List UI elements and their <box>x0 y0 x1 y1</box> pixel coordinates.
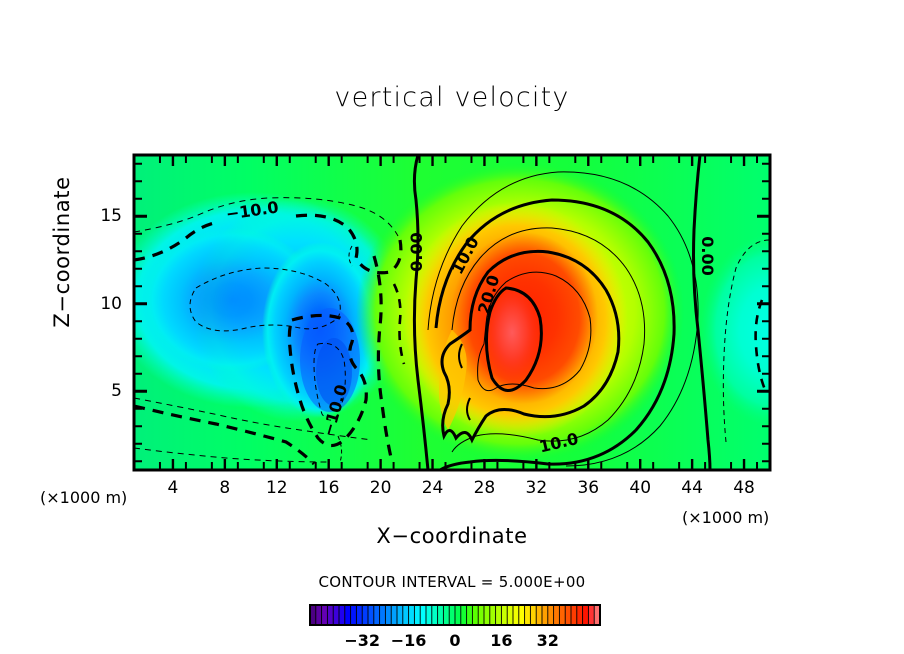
colorbar-cell <box>432 605 438 625</box>
x-tick-label: 16 <box>318 478 340 498</box>
colorbar-tick-label: 32 <box>537 631 559 650</box>
colorbar-cell <box>461 605 467 625</box>
x-tick-label: 28 <box>474 478 496 498</box>
contour-label-zero-right: 0.00 <box>698 236 717 275</box>
colorbar-cell <box>327 605 333 625</box>
colorbar-cell <box>449 605 455 625</box>
colorbar-cell <box>548 605 554 625</box>
colorbar-cell <box>542 605 548 625</box>
colorbar-cell <box>339 605 345 625</box>
colorbar-cell <box>420 605 426 625</box>
colorbar-cell <box>472 605 478 625</box>
colorbar-cell <box>443 605 449 625</box>
colorbar-cell <box>496 605 502 625</box>
colorbar-cell <box>322 605 328 625</box>
colorbar-cell <box>588 605 594 625</box>
colorbar-cell <box>316 605 322 625</box>
y-tick-label: 15 <box>76 206 122 226</box>
x-tick-label: 12 <box>266 478 288 498</box>
colorbar-cell <box>467 605 473 625</box>
colorbar-cell <box>559 605 565 625</box>
colorbar-cells <box>310 605 600 625</box>
colorbar-cell <box>385 605 391 625</box>
x-tick-label: 4 <box>168 478 179 498</box>
x-tick-label: 36 <box>577 478 599 498</box>
colorbar-cell <box>513 605 519 625</box>
colorbar-cell <box>409 605 415 625</box>
colorbar-cell <box>501 605 507 625</box>
colorbar-cell <box>530 605 536 625</box>
colorbar-cell <box>356 605 362 625</box>
colorbar-cell <box>414 605 420 625</box>
x-tick-label: 40 <box>629 478 651 498</box>
colorbar-cell <box>351 605 357 625</box>
colorbar-cell <box>554 605 560 625</box>
colorbar-cell <box>536 605 542 625</box>
y-axis-title: Z−coordinate <box>50 142 74 362</box>
colorbar-cell <box>426 605 432 625</box>
y-unit-label: (×1000 m) <box>40 488 127 507</box>
colorbar-cell <box>397 605 403 625</box>
x-axis-title: X−coordinate <box>0 524 904 548</box>
x-tick-label: 32 <box>526 478 548 498</box>
colorbar-cell <box>438 605 444 625</box>
colorbar-cell <box>583 605 589 625</box>
colorbar-tick-label: −16 <box>391 631 427 650</box>
x-tick-label: 44 <box>681 478 703 498</box>
colorbar-cell <box>368 605 374 625</box>
colorbar-cell <box>484 605 490 625</box>
colorbar-cell <box>345 605 351 625</box>
colorbar-cell <box>565 605 571 625</box>
colorbar-cell <box>380 605 386 625</box>
colorbar-cell <box>490 605 496 625</box>
colorbar-cell <box>577 605 583 625</box>
x-tick-label: 8 <box>219 478 230 498</box>
x-unit-label: (×1000 m) <box>682 508 769 527</box>
colorbar-cell <box>571 605 577 625</box>
y-tick-label: 5 <box>76 381 122 401</box>
x-tick-label: 48 <box>733 478 755 498</box>
colorbar-cell <box>403 605 409 625</box>
colorbar-cell <box>333 605 339 625</box>
colorbar-cell <box>507 605 513 625</box>
contour-label-zero-left: 0.00 <box>407 232 426 271</box>
colorbar-tick-label: −32 <box>344 631 380 650</box>
page-title: vertical velocity <box>0 82 904 113</box>
colorbar-cell <box>478 605 484 625</box>
y-tick-label: 10 <box>76 294 122 314</box>
colorbar-cell <box>519 605 525 625</box>
colorbar-cell <box>374 605 380 625</box>
x-tick-label: 20 <box>370 478 392 498</box>
colorbar-tick-label: 16 <box>490 631 512 650</box>
colorbar-cell <box>362 605 368 625</box>
colorbar <box>310 605 600 625</box>
colorbar-cell <box>391 605 397 625</box>
colorbar-cell <box>455 605 461 625</box>
colorbar-tick-label: 0 <box>449 631 460 650</box>
colorbar-cell <box>525 605 531 625</box>
x-tick-label: 24 <box>422 478 444 498</box>
contour-interval-caption: CONTOUR INTERVAL = 5.000E+00 <box>0 573 904 591</box>
